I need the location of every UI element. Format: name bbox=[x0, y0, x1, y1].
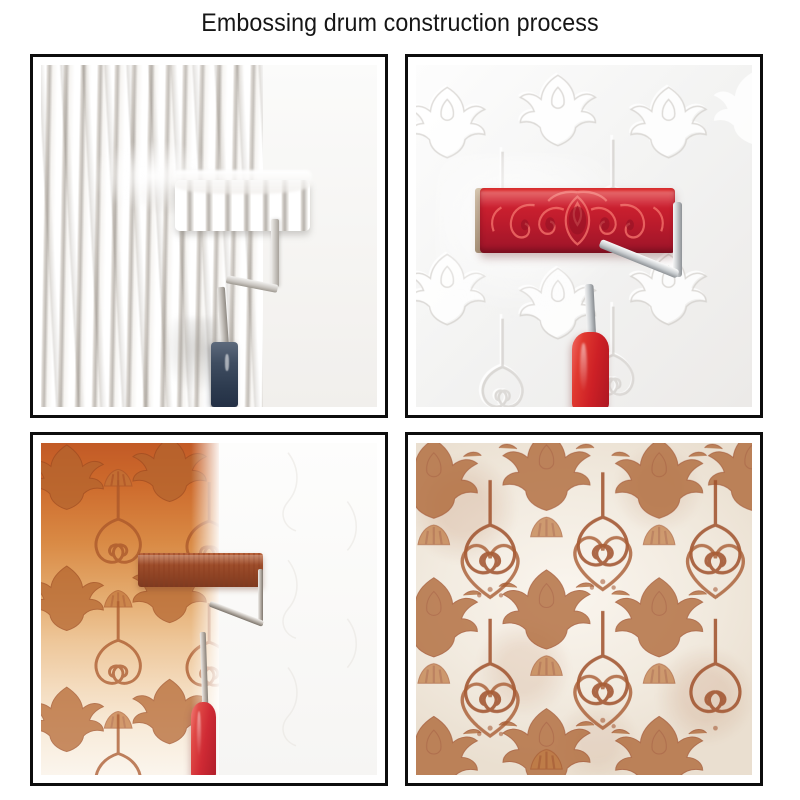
roller-frame-vertical bbox=[271, 219, 279, 287]
photo-step-4-finished-wall bbox=[416, 443, 752, 775]
navy-handle-grip bbox=[211, 342, 238, 407]
photo-frame-step-4[interactable] bbox=[405, 432, 763, 786]
drum-relief-pattern bbox=[480, 188, 675, 253]
photo-step-1-plaster-combing bbox=[41, 65, 377, 407]
photo-grid bbox=[30, 54, 772, 786]
photo-step-3-glaze-rolling bbox=[41, 443, 377, 775]
page-title: Embossing drum construction process bbox=[28, 9, 772, 38]
glaze-loaded-roller-drum bbox=[138, 553, 262, 588]
photo-frame-step-3[interactable] bbox=[30, 432, 388, 786]
red-handle-grip bbox=[191, 702, 216, 775]
terracotta-damask-pattern bbox=[416, 443, 752, 775]
photo-frame-step-1[interactable] bbox=[30, 54, 388, 418]
roller-frame-vertical bbox=[258, 569, 264, 625]
red-handle-grip bbox=[572, 332, 609, 407]
photo-frame-step-2[interactable] bbox=[405, 54, 763, 418]
white-roller-drum bbox=[175, 180, 309, 231]
roller-frame-vertical bbox=[673, 202, 682, 277]
product-infographic: Embossing drum construction process bbox=[0, 0, 800, 800]
red-embossing-drum bbox=[480, 188, 675, 253]
photo-step-2-red-embossing-roller bbox=[416, 65, 752, 407]
